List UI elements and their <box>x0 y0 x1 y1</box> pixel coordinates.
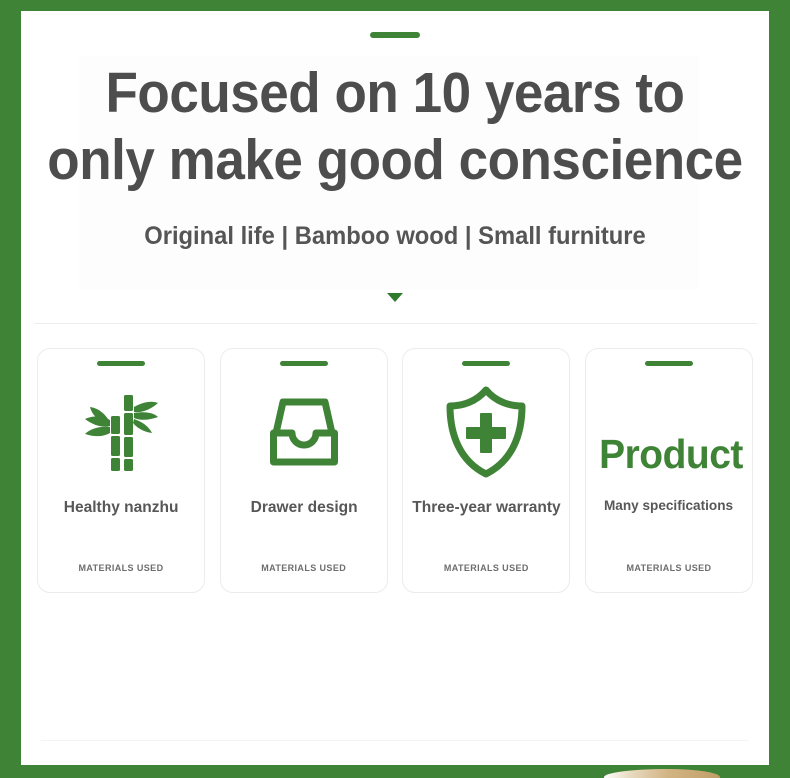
bamboo-icon <box>83 386 159 478</box>
feature-card-product[interactable]: Product Many specifications MATERIALS US… <box>585 348 753 593</box>
card-title: Healthy nanzhu <box>58 498 184 517</box>
page-root: Focused on 10 years to only make good co… <box>0 0 790 778</box>
hero-section: Focused on 10 years to only make good co… <box>21 11 769 324</box>
subtitle: Original life | Bamboo wood | Small furn… <box>40 222 751 251</box>
feature-card-warranty[interactable]: Three-year warranty MATERIALS USED <box>402 348 570 593</box>
wood-product-sliver <box>604 769 720 778</box>
card-dash-icon <box>97 361 145 366</box>
page-title: Focused on 10 years to only make good co… <box>47 60 743 194</box>
bottom-divider <box>41 740 749 741</box>
feature-card-drawer-design[interactable]: Drawer design MATERIALS USED <box>220 348 388 593</box>
section-divider <box>34 323 757 324</box>
card-dash-icon <box>645 361 693 366</box>
content-panel: Focused on 10 years to only make good co… <box>21 11 769 765</box>
top-dash-icon <box>370 32 420 38</box>
card-title: Many specifications <box>599 497 740 513</box>
card-footer-label: MATERIALS USED <box>38 563 204 573</box>
headline-wrapper: Focused on 10 years to only make good co… <box>21 56 769 200</box>
card-footer-label: MATERIALS USED <box>403 563 569 573</box>
feature-card-list: Healthy nanzhu MATERIALS USED Drawer des… <box>21 348 769 593</box>
caret-down-icon[interactable] <box>387 293 403 302</box>
card-dash-icon <box>280 361 328 366</box>
card-title: Three-year warranty <box>406 498 566 517</box>
card-footer-label: MATERIALS USED <box>221 563 387 573</box>
card-footer-label: MATERIALS USED <box>586 563 752 573</box>
drawer-tray-icon <box>265 386 343 478</box>
shield-plus-icon <box>444 386 528 478</box>
card-title: Drawer design <box>244 498 363 517</box>
feature-card-healthy-nanzhu[interactable]: Healthy nanzhu MATERIALS USED <box>37 348 205 593</box>
card-dash-icon <box>462 361 510 366</box>
product-headline: Product <box>579 431 763 478</box>
